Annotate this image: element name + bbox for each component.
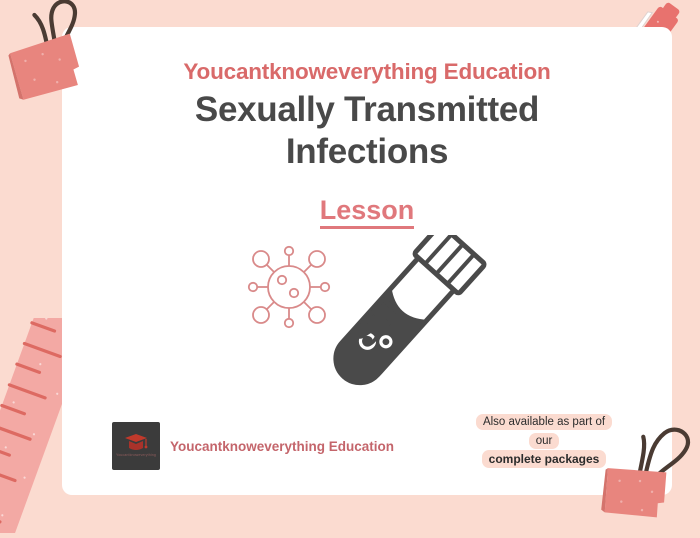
header-brand: Youcantknoweverything Education [62,59,672,85]
binder-clip-bottom-right [600,418,700,533]
poster-canvas: Youcantknoweverything Education Sexually… [0,0,700,525]
badge-line-2-text: our [529,433,560,449]
illustration-group: STI [242,235,492,410]
test-tube-icon: STI [322,235,486,397]
footer-logo-group: Youcantknoweverything Youcantknoweveryth… [112,422,394,470]
page-title-line1: Sexually Transmitted [87,89,647,131]
poster-card: Youcantknoweverything Education Sexually… [62,27,672,495]
subtitle-lesson: Lesson [62,195,672,226]
page-title-line2: Infections [87,131,647,173]
binder-clip-top-left [0,0,116,109]
brand-logo: Youcantknoweverything [112,422,160,470]
badge-line-1-text: Also available as part of [476,414,612,430]
logo-caption: Youcantknoweverything [112,453,160,457]
page-title: Sexually Transmitted Infections [87,89,647,173]
subtitle-lesson-label: Lesson [320,195,415,229]
graduation-emblem-icon [123,433,149,453]
virus-icon [249,247,329,327]
footer-brand: Youcantknoweverything Education [170,439,394,454]
badge-line-3-text: complete packages [482,450,607,468]
